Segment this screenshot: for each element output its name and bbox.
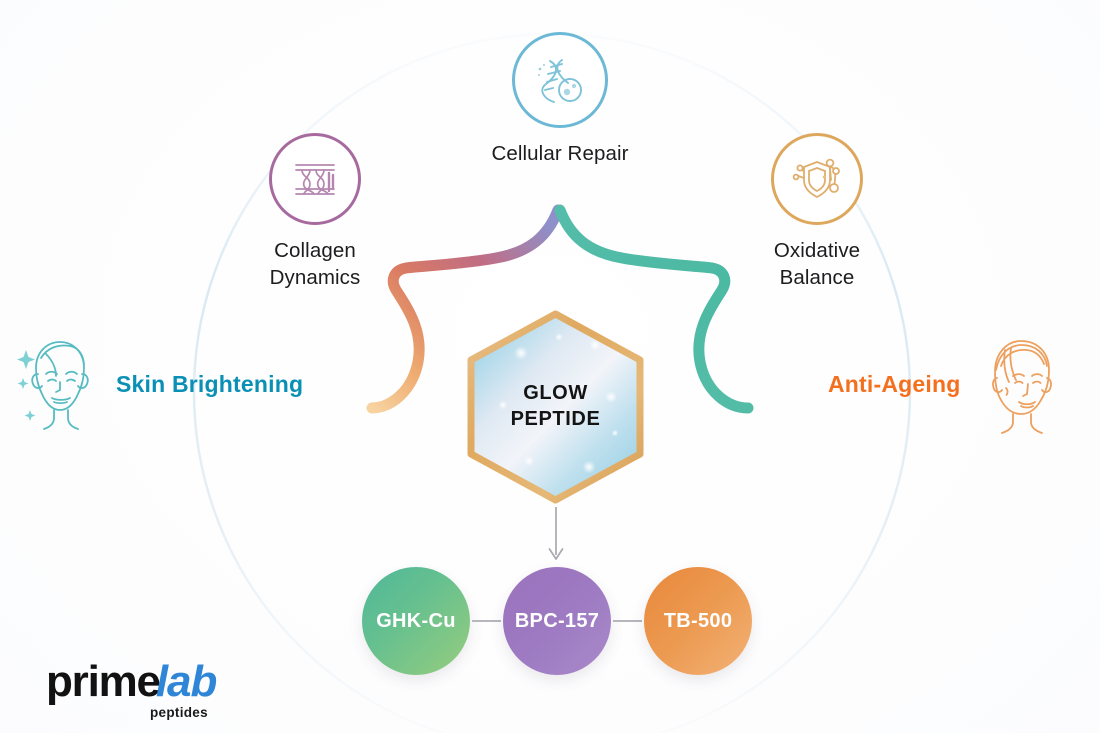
node-label: Cellular Repair: [491, 141, 628, 168]
peptide-tb-500[interactable]: TB-500: [644, 567, 752, 675]
woman-face-icon: [975, 332, 1063, 436]
chain-connector: [472, 620, 501, 622]
peptide-label: BPC-157: [515, 610, 599, 633]
collagen-fiber-icon: [269, 133, 361, 225]
glow-peptide-hexagon[interactable]: GLOW PEPTIDE: [463, 309, 648, 505]
logo-primary-text: prime: [46, 660, 160, 704]
downward-arrow: [540, 505, 572, 567]
brand-logo[interactable]: prime lab peptides: [46, 660, 276, 720]
logo-accent-text: lab: [156, 660, 217, 704]
benefit-skin-brightening[interactable]: Skin Brightening: [14, 332, 303, 436]
peptide-bpc-157[interactable]: BPC-157: [503, 567, 611, 675]
peptide-chain: GHK-Cu BPC-157 TB-500: [362, 560, 752, 682]
shield-molecule-icon: [771, 133, 863, 225]
peptide-label: TB-500: [664, 610, 733, 633]
node-collagen-dynamics[interactable]: Collagen Dynamics: [220, 133, 410, 291]
node-oxidative-balance[interactable]: Oxidative Balance: [722, 133, 912, 291]
benefit-label: Anti-Ageing: [828, 371, 961, 398]
benefit-label: Skin Brightening: [116, 371, 303, 398]
node-label: Collagen Dynamics: [270, 238, 361, 291]
chain-connector: [613, 620, 642, 622]
node-cellular-repair[interactable]: Cellular Repair: [465, 32, 655, 168]
dna-cell-icon: [512, 32, 608, 128]
benefit-anti-ageing[interactable]: Anti-Ageing: [828, 332, 1063, 436]
peptide-ghk-cu[interactable]: GHK-Cu: [362, 567, 470, 675]
node-label: Oxidative Balance: [774, 238, 860, 291]
sparkle-face-icon: [14, 332, 102, 436]
infographic-canvas: GLOW PEPTIDE Cellular Repair: [0, 0, 1100, 733]
logo-subtitle: peptides: [150, 705, 276, 720]
peptide-label: GHK-Cu: [376, 610, 456, 633]
